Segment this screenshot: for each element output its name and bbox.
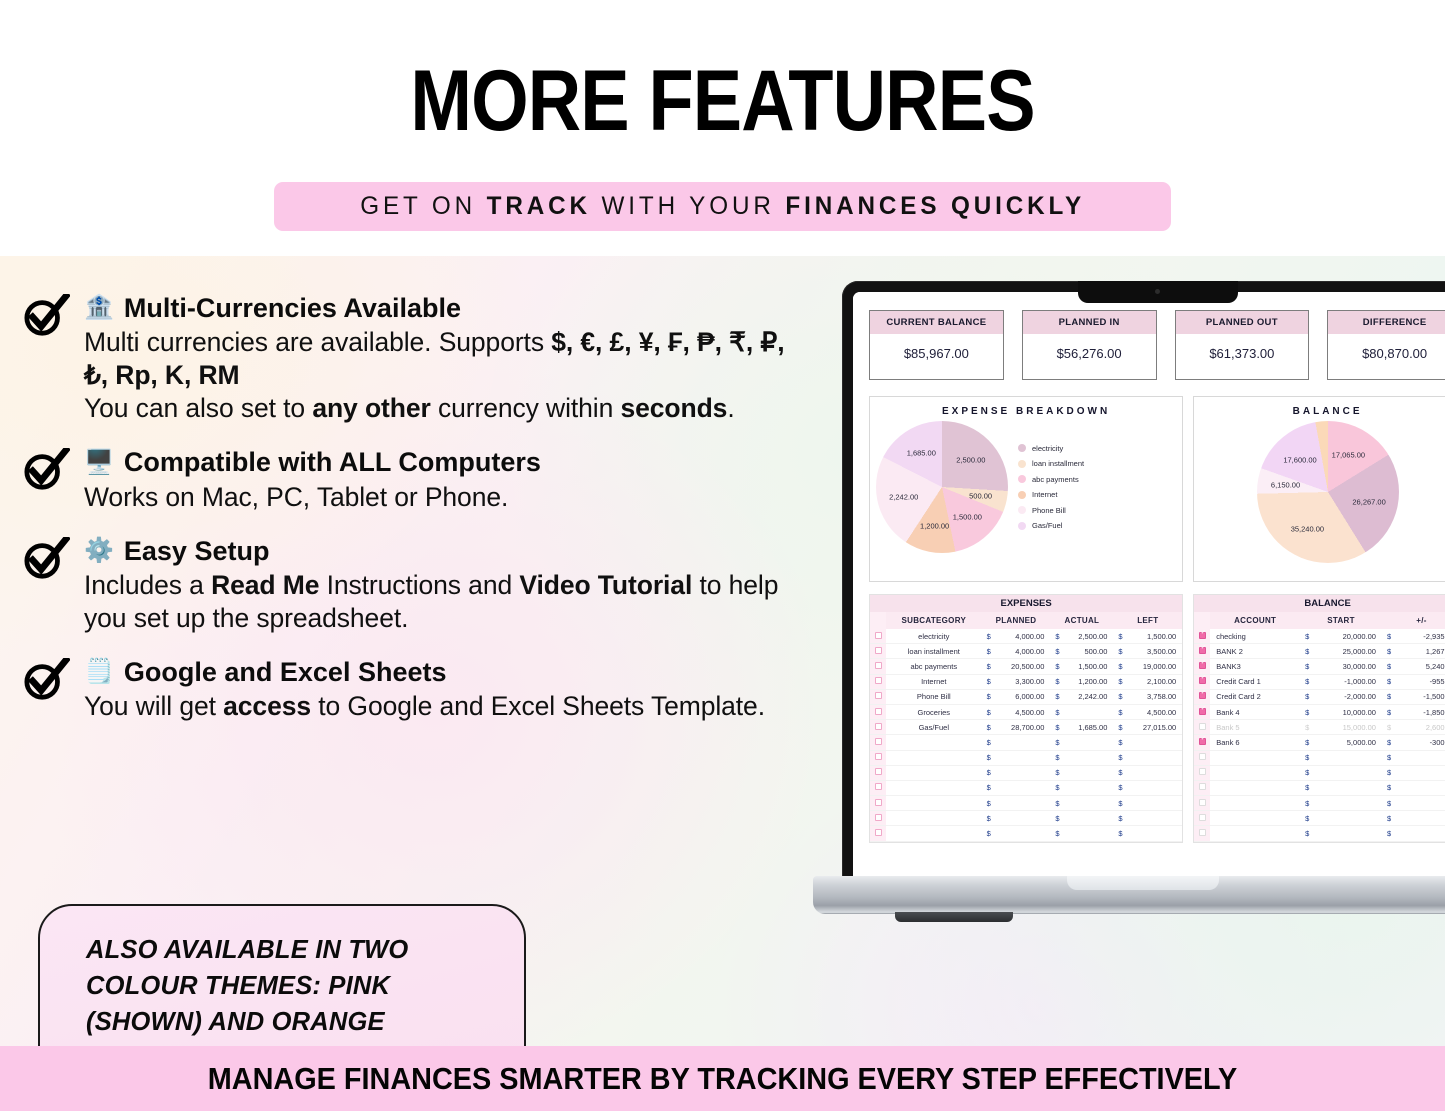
cell-currency: $ <box>982 796 993 811</box>
callout-line-1: ALSO AVAILABLE IN TWO <box>86 932 494 968</box>
cell-start <box>1311 780 1382 795</box>
cell-actual <box>1062 826 1114 841</box>
checkbox-icon[interactable] <box>1199 662 1206 669</box>
laptop-notch <box>1078 281 1238 303</box>
cell-subcategory: Gas/Fuel <box>886 720 982 735</box>
table-row: Internet$3,300.00$1,200.00$2,100.00 <box>870 674 1182 689</box>
cell-currency: $ <box>1113 826 1124 841</box>
cell-delta: -955.00 <box>1393 674 1445 689</box>
cell-currency: $ <box>1382 811 1393 826</box>
cell-currency: $ <box>1113 750 1124 765</box>
feature-title: Google and Excel Sheets <box>124 656 447 688</box>
cell-currency: $ <box>1300 750 1311 765</box>
checkbox-icon[interactable] <box>1199 768 1206 775</box>
balance-table: ACCOUNTSTART+/- checking$20,000.00$-2,93… <box>1194 612 1445 842</box>
cell-delta: -1,850.00 <box>1393 704 1445 719</box>
cell-currency: $ <box>1300 765 1311 780</box>
checkbox-icon[interactable] <box>875 708 882 715</box>
pie-slice-label: 17,065.00 <box>1332 450 1365 459</box>
feature-list: 🏦Multi-Currencies AvailableMulti currenc… <box>18 292 808 744</box>
header-zone: MORE FEATURES GET ON TRACK WITH YOUR FIN… <box>0 0 1445 256</box>
checkbox-icon[interactable] <box>1199 738 1206 745</box>
cell-currency: $ <box>1300 735 1311 750</box>
cell-currency: $ <box>1113 644 1124 659</box>
checkbox-icon[interactable] <box>1199 723 1206 730</box>
row-checkbox-cell[interactable] <box>1194 659 1210 674</box>
cell-subcategory <box>886 750 982 765</box>
cell-left <box>1125 796 1183 811</box>
kpi-card-1: PLANNED IN$56,276.00 <box>1022 310 1157 380</box>
cell-account <box>1210 826 1300 841</box>
row-checkbox-cell[interactable] <box>1194 674 1210 689</box>
cell-account: Bank 6 <box>1210 735 1300 750</box>
cell-planned: 20,500.00 <box>993 659 1051 674</box>
cell-currency: $ <box>1382 796 1393 811</box>
row-checkbox-cell[interactable] <box>870 735 886 750</box>
cell-currency: $ <box>1382 674 1393 689</box>
legend-color-dot <box>1018 475 1026 483</box>
check-circle-icon <box>22 537 70 581</box>
cell-planned: 4,000.00 <box>993 644 1051 659</box>
pie-slice-label: 6,150.00 <box>1271 481 1300 490</box>
cell-currency: $ <box>1382 704 1393 719</box>
checkbox-icon[interactable] <box>1199 799 1206 806</box>
checkbox-icon[interactable] <box>875 814 882 821</box>
charts-row: EXPENSE BREAKDOWN 2,500.00500.001,500.00… <box>869 396 1445 582</box>
feature-body: Multi currencies are available. Supports… <box>84 326 808 425</box>
cell-account <box>1210 780 1300 795</box>
cell-start <box>1311 811 1382 826</box>
balance-table-body: checking$20,000.00$-2,935.00BANK 2$25,00… <box>1194 629 1445 841</box>
row-checkbox-cell[interactable] <box>1194 720 1210 735</box>
cell-start: 30,000.00 <box>1311 659 1382 674</box>
checkbox-icon[interactable] <box>1199 692 1206 699</box>
checkbox-icon[interactable] <box>1199 783 1206 790</box>
cell-delta <box>1393 811 1445 826</box>
cell-planned: 28,700.00 <box>993 720 1051 735</box>
cell-currency: $ <box>1382 659 1393 674</box>
row-checkbox-cell[interactable] <box>870 720 886 735</box>
kpi-card-3: DIFFERENCE$80,870.00 <box>1327 310 1445 380</box>
cell-actual <box>1062 811 1114 826</box>
cell-currency: $ <box>1113 765 1124 780</box>
cell-actual: 2,500.00 <box>1062 629 1114 644</box>
cell-currency: $ <box>1050 704 1061 719</box>
checkbox-icon[interactable] <box>1199 753 1206 760</box>
pie-slice-label: 26,267.00 <box>1352 497 1385 506</box>
expense-pie-legend: electricityloan installmentabc paymentsI… <box>1018 444 1084 531</box>
balance-chart-title: BALANCE <box>1194 397 1445 421</box>
cell-account <box>1210 765 1300 780</box>
checkbox-icon[interactable] <box>1199 814 1206 821</box>
table-row: $$$ <box>870 735 1182 750</box>
feature-title-row: ⚙️Easy Setup <box>84 535 808 567</box>
cell-currency: $ <box>1113 811 1124 826</box>
pie-slice-label: 1,200.00 <box>920 521 949 530</box>
cell-currency: $ <box>1300 659 1311 674</box>
cell-delta <box>1393 796 1445 811</box>
cell-left: 3,758.00 <box>1125 689 1183 704</box>
cell-currency: $ <box>1113 796 1124 811</box>
cell-left: 1,500.00 <box>1125 629 1183 644</box>
cell-currency: $ <box>1050 674 1061 689</box>
feature-title: Easy Setup <box>124 535 270 567</box>
row-checkbox-cell[interactable] <box>870 750 886 765</box>
cell-start: 5,000.00 <box>1311 735 1382 750</box>
col-2: ACTUAL <box>1050 612 1113 629</box>
cell-actual: 500.00 <box>1062 644 1114 659</box>
cell-currency: $ <box>1050 735 1061 750</box>
feature-item-0: 🏦Multi-Currencies AvailableMulti currenc… <box>18 292 808 425</box>
row-checkbox-cell[interactable] <box>870 796 886 811</box>
cell-delta: 1,267.00 <box>1393 644 1445 659</box>
cell-currency: $ <box>982 826 993 841</box>
pie-slice-label: 1,500.00 <box>953 513 982 522</box>
expense-pie-chart: 2,500.00500.001,500.001,200.002,242.001,… <box>876 421 1008 553</box>
computer-emoji: 🖥️ <box>84 451 114 475</box>
laptop-mockup: CURRENT BALANCE$85,967.00PLANNED IN$56,2… <box>813 281 1445 953</box>
cell-actual <box>1062 796 1114 811</box>
cell-subcategory: abc payments <box>886 659 982 674</box>
legend-label: loan installment <box>1032 459 1084 468</box>
cell-actual <box>1062 735 1114 750</box>
legend-label: Gas/Fuel <box>1032 521 1062 530</box>
row-checkbox-cell[interactable] <box>1194 796 1210 811</box>
row-checkbox-cell[interactable] <box>1194 780 1210 795</box>
page-title: MORE FEATURES <box>101 58 1344 144</box>
cell-currency: $ <box>1113 720 1124 735</box>
spreadsheet: CURRENT BALANCE$85,967.00PLANNED IN$56,2… <box>853 292 1445 876</box>
cell-currency: $ <box>1382 644 1393 659</box>
row-checkbox-cell[interactable] <box>1194 735 1210 750</box>
checkbox-icon[interactable] <box>875 829 882 836</box>
legend-label: Phone Bill <box>1032 506 1066 515</box>
bottom-banner: MANAGE FINANCES SMARTER BY TRACKING EVER… <box>0 1046 1445 1111</box>
checkbox-icon[interactable] <box>875 692 882 699</box>
col-check <box>870 612 886 629</box>
bottom-banner-text: MANAGE FINANCES SMARTER BY TRACKING EVER… <box>208 1061 1237 1097</box>
kpi-label: CURRENT BALANCE <box>870 311 1003 334</box>
table-row: $$$ <box>870 765 1182 780</box>
pie-slice-label: 35,240.00 <box>1291 525 1324 534</box>
cell-subcategory <box>886 811 982 826</box>
pie-slice-label: 2,500.00 <box>956 455 985 464</box>
expense-breakdown-panel: EXPENSE BREAKDOWN 2,500.00500.001,500.00… <box>869 396 1183 582</box>
cell-left <box>1125 735 1183 750</box>
cell-actual: 1,685.00 <box>1062 720 1114 735</box>
checkbox-icon[interactable] <box>875 768 882 775</box>
callout-line-2: COLOUR THEMES: PINK <box>86 968 494 1004</box>
callout-line-3: (SHOWN) AND ORANGE <box>86 1004 494 1040</box>
laptop-foot <box>895 912 1013 922</box>
kpi-value: $85,967.00 <box>870 334 1003 379</box>
checkbox-icon[interactable] <box>1199 632 1206 639</box>
table-row: $$$ <box>870 796 1182 811</box>
cell-currency: $ <box>1050 720 1061 735</box>
cell-planned: 3,300.00 <box>993 674 1051 689</box>
table-row: Credit Card 2$-2,000.00$-1,500.00 <box>1194 689 1445 704</box>
cell-account: Credit Card 1 <box>1210 674 1300 689</box>
cell-currency: $ <box>1113 735 1124 750</box>
cell-currency: $ <box>1050 629 1061 644</box>
pie-slice-label: 1,685.00 <box>907 449 936 458</box>
checkbox-icon[interactable] <box>875 783 882 790</box>
cell-currency: $ <box>1300 689 1311 704</box>
checkbox-icon[interactable] <box>1199 677 1206 684</box>
row-checkbox-cell[interactable] <box>870 659 886 674</box>
table-row: loan installment$4,000.00$500.00$3,500.0… <box>870 644 1182 659</box>
feature-title: Compatible with ALL Computers <box>124 446 541 478</box>
checkbox-icon[interactable] <box>875 738 882 745</box>
row-checkbox-cell[interactable] <box>1194 704 1210 719</box>
row-checkbox-cell[interactable] <box>1194 644 1210 659</box>
balance-chart-panel: BALANCE 17,065.0026,267.0035,240.006,150… <box>1193 396 1445 582</box>
row-checkbox-cell[interactable] <box>870 704 886 719</box>
check-circle-icon <box>22 448 70 492</box>
cell-currency: $ <box>1050 796 1061 811</box>
cell-start: 15,000.00 <box>1311 720 1382 735</box>
cell-account: checking <box>1210 629 1300 644</box>
subtitle-bold: TRACK <box>487 192 591 220</box>
table-row: $$ <box>1194 811 1445 826</box>
feature-body: You will get access to Google and Excel … <box>84 690 808 723</box>
checkbox-icon[interactable] <box>875 677 882 684</box>
cell-subcategory <box>886 826 982 841</box>
tables-row: EXPENSES SUBCATEGORYPLANNEDACTUALLEFT el… <box>869 594 1445 843</box>
cell-left: 19,000.00 <box>1125 659 1183 674</box>
row-checkbox-cell[interactable] <box>870 674 886 689</box>
row-checkbox-cell[interactable] <box>870 811 886 826</box>
col-0: ACCOUNT <box>1210 612 1300 629</box>
cell-currency: $ <box>1382 780 1393 795</box>
feature-body: Works on Mac, PC, Tablet or Phone. <box>84 481 808 514</box>
cell-currency: $ <box>1300 811 1311 826</box>
legend-item: Gas/Fuel <box>1018 521 1084 530</box>
expenses-table-body: electricity$4,000.00$2,500.00$1,500.00lo… <box>870 629 1182 841</box>
webcam-icon <box>1155 289 1160 294</box>
expenses-table-title: EXPENSES <box>870 595 1182 612</box>
col-check <box>1194 612 1210 629</box>
cell-left <box>1125 750 1183 765</box>
cell-actual: 2,242.00 <box>1062 689 1114 704</box>
cell-account <box>1210 811 1300 826</box>
cell-currency: $ <box>982 765 993 780</box>
cell-currency: $ <box>982 720 993 735</box>
legend-item: abc payments <box>1018 475 1084 484</box>
row-checkbox-cell[interactable] <box>1194 629 1210 644</box>
expense-chart-title: EXPENSE BREAKDOWN <box>870 397 1182 421</box>
table-row: $$ <box>1194 765 1445 780</box>
cell-planned: 4,000.00 <box>993 629 1051 644</box>
row-checkbox-cell[interactable] <box>1194 826 1210 841</box>
row-checkbox-cell[interactable] <box>870 689 886 704</box>
table-row: Bank 6$5,000.00$-300.00 <box>1194 735 1445 750</box>
cell-planned <box>993 811 1051 826</box>
cell-currency: $ <box>1050 644 1061 659</box>
table-row: $$ <box>1194 750 1445 765</box>
expenses-table-wrap: EXPENSES SUBCATEGORYPLANNEDACTUALLEFT el… <box>869 594 1183 843</box>
cell-currency: $ <box>1050 659 1061 674</box>
table-row: $$$ <box>870 811 1182 826</box>
cell-currency: $ <box>1050 826 1061 841</box>
feature-item-2: ⚙️Easy SetupIncludes a Read Me Instructi… <box>18 535 808 635</box>
cell-currency: $ <box>982 644 993 659</box>
table-row: $$$ <box>870 750 1182 765</box>
cell-currency: $ <box>1050 780 1061 795</box>
cell-account: Credit Card 2 <box>1210 689 1300 704</box>
col-2: +/- <box>1382 612 1445 629</box>
cell-currency: $ <box>1300 674 1311 689</box>
cell-actual <box>1062 765 1114 780</box>
check-circle-icon <box>22 658 70 702</box>
balance-table-title: BALANCE <box>1194 595 1445 612</box>
row-checkbox-cell[interactable] <box>870 780 886 795</box>
row-checkbox-cell[interactable] <box>1194 689 1210 704</box>
table-row: BANK3$30,000.00$5,240.00 <box>1194 659 1445 674</box>
cell-subcategory: electricity <box>886 629 982 644</box>
cell-currency: $ <box>1050 689 1061 704</box>
table-row: abc payments$20,500.00$1,500.00$19,000.0… <box>870 659 1182 674</box>
cell-account <box>1210 796 1300 811</box>
table-row: Groceries$4,500.00$$4,500.00 <box>870 704 1182 719</box>
check-circle-icon <box>22 448 70 492</box>
row-checkbox-cell[interactable] <box>1194 750 1210 765</box>
row-checkbox-cell[interactable] <box>870 629 886 644</box>
cell-delta: -300.00 <box>1393 735 1445 750</box>
row-checkbox-cell[interactable] <box>1194 765 1210 780</box>
laptop-base <box>813 876 1445 914</box>
pie-slice-label: 17,600.00 <box>1283 455 1316 464</box>
col-3: LEFT <box>1113 612 1182 629</box>
check-circle-icon <box>22 658 70 702</box>
pie-slice-label: 2,242.00 <box>889 493 918 502</box>
cell-delta: 5,240.00 <box>1393 659 1445 674</box>
feature-title-row: 🗒️Google and Excel Sheets <box>84 656 808 688</box>
cell-subcategory: loan installment <box>886 644 982 659</box>
legend-color-dot <box>1018 506 1026 514</box>
cell-start <box>1311 826 1382 841</box>
kpi-value: $80,870.00 <box>1328 334 1445 379</box>
table-row: Bank 5$15,000.00$2,600.00 <box>1194 720 1445 735</box>
cell-currency: $ <box>1113 674 1124 689</box>
subtitle-text: GET ON TRACK WITH YOUR FINANCES QUICKLY <box>360 192 1085 221</box>
cell-left: 4,500.00 <box>1125 704 1183 719</box>
cell-subcategory <box>886 765 982 780</box>
cell-start: -1,000.00 <box>1311 674 1382 689</box>
bank-emoji: 🏦 <box>84 296 114 320</box>
feature-body: Includes a Read Me Instructions and Vide… <box>84 569 808 635</box>
col-1: START <box>1300 612 1382 629</box>
cell-currency: $ <box>982 689 993 704</box>
legend-item: electricity <box>1018 444 1084 453</box>
legend-label: Internet <box>1032 490 1057 499</box>
cell-currency: $ <box>1382 765 1393 780</box>
cell-currency: $ <box>1113 659 1124 674</box>
check-circle-icon <box>22 294 70 338</box>
cell-currency: $ <box>1382 826 1393 841</box>
cell-planned <box>993 826 1051 841</box>
cell-actual <box>1062 750 1114 765</box>
cell-currency: $ <box>982 750 993 765</box>
legend-item: loan installment <box>1018 459 1084 468</box>
cell-account <box>1210 750 1300 765</box>
kpi-label: PLANNED IN <box>1023 311 1156 334</box>
laptop-screen: CURRENT BALANCE$85,967.00PLANNED IN$56,2… <box>853 292 1445 876</box>
checkbox-icon[interactable] <box>875 753 882 760</box>
cell-start: 20,000.00 <box>1311 629 1382 644</box>
feature-title-row: 🖥️Compatible with ALL Computers <box>84 446 808 478</box>
cell-left <box>1125 780 1183 795</box>
checkbox-icon[interactable] <box>1199 647 1206 654</box>
cell-actual: 1,500.00 <box>1062 659 1114 674</box>
laptop-screen-bezel: CURRENT BALANCE$85,967.00PLANNED IN$56,2… <box>842 281 1445 886</box>
row-checkbox-cell[interactable] <box>870 826 886 841</box>
legend-item: Phone Bill <box>1018 506 1084 515</box>
table-row: $$ <box>1194 826 1445 841</box>
poster-root: MORE FEATURES GET ON TRACK WITH YOUR FIN… <box>0 0 1445 1111</box>
cell-currency: $ <box>1300 780 1311 795</box>
cell-planned <box>993 765 1051 780</box>
cell-delta <box>1393 765 1445 780</box>
cell-subcategory: Phone Bill <box>886 689 982 704</box>
cell-currency: $ <box>1113 629 1124 644</box>
balance-pie-wrap: 17,065.0026,267.0035,240.006,150.0017,60… <box>1194 421 1445 563</box>
cell-account: Bank 4 <box>1210 704 1300 719</box>
cell-planned <box>993 735 1051 750</box>
kpi-value: $56,276.00 <box>1023 334 1156 379</box>
cell-currency: $ <box>982 659 993 674</box>
table-row: Bank 4$10,000.00$-1,850.00 <box>1194 704 1445 719</box>
row-checkbox-cell[interactable] <box>1194 811 1210 826</box>
checkbox-icon[interactable] <box>1199 708 1206 715</box>
legend-color-dot <box>1018 522 1026 530</box>
col-1: PLANNED <box>982 612 1051 629</box>
cell-start: 25,000.00 <box>1311 644 1382 659</box>
checkbox-icon[interactable] <box>875 723 882 730</box>
checkbox-icon[interactable] <box>875 799 882 806</box>
row-checkbox-cell[interactable] <box>870 765 886 780</box>
cell-currency: $ <box>982 735 993 750</box>
cell-currency: $ <box>1300 796 1311 811</box>
checkbox-icon[interactable] <box>875 632 882 639</box>
notepad-emoji: 🗒️ <box>84 660 114 684</box>
balance-pie-chart: 17,065.0026,267.0035,240.006,150.0017,60… <box>1257 421 1399 563</box>
cell-currency: $ <box>1382 735 1393 750</box>
cell-account: Bank 5 <box>1210 720 1300 735</box>
subtitle-light: GET ON <box>360 192 486 220</box>
cell-subcategory <box>886 780 982 795</box>
table-row: $$ <box>1194 796 1445 811</box>
cell-left <box>1125 811 1183 826</box>
legend-label: electricity <box>1032 444 1063 453</box>
cell-currency: $ <box>1300 629 1311 644</box>
checkbox-icon[interactable] <box>875 647 882 654</box>
feature-title: Multi-Currencies Available <box>124 292 461 324</box>
cell-start: 10,000.00 <box>1311 704 1382 719</box>
row-checkbox-cell[interactable] <box>870 644 886 659</box>
table-row: Gas/Fuel$28,700.00$1,685.00$27,015.00 <box>870 720 1182 735</box>
cell-subcategory <box>886 796 982 811</box>
cell-start: -2,000.00 <box>1311 689 1382 704</box>
cell-planned <box>993 780 1051 795</box>
checkbox-icon[interactable] <box>875 662 882 669</box>
cell-left: 3,500.00 <box>1125 644 1183 659</box>
table-row: Credit Card 1$-1,000.00$-955.00 <box>1194 674 1445 689</box>
pie-slice-label: 500.00 <box>969 491 992 500</box>
checkbox-icon[interactable] <box>1199 829 1206 836</box>
cell-currency: $ <box>1382 720 1393 735</box>
cell-currency: $ <box>1050 765 1061 780</box>
